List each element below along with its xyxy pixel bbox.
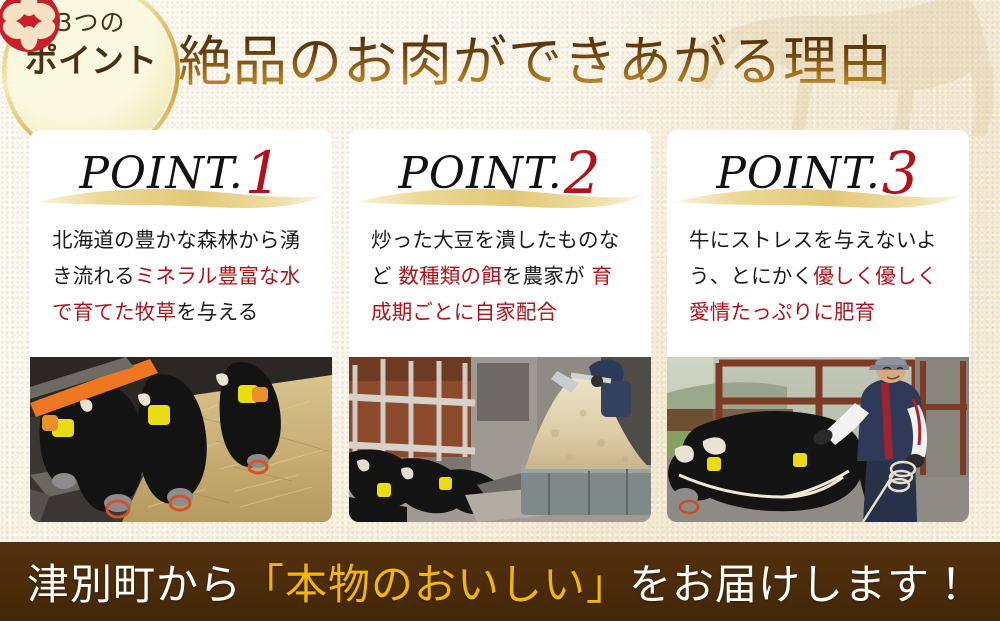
points-card-list: POINT.1 北海道の豊かな森林から湧き流れるミネラル豊富な水で育てた牧草を与… xyxy=(0,130,1000,525)
gold-brush-swoosh-icon xyxy=(36,184,328,214)
footer-bar: 津別町から「本物のおいしい」をお届けします！ xyxy=(0,542,1000,621)
cattle-eating-hay-photo[interactable] xyxy=(30,357,332,522)
point-2-body: 炒った大豆を潰したものなど 数種類の餌を農家が 育成期ごとに自家配合 xyxy=(349,218,651,330)
footer-quote: 本物のおいしい xyxy=(285,560,586,609)
point-card-1[interactable]: POINT.1 北海道の豊かな森林から湧き流れるミネラル豊富な水で育てた牧草を与… xyxy=(30,130,332,522)
point-3-body: 牛にストレスを与えないよう、とにかく優しく優しく愛情たっぷりに肥育 xyxy=(667,218,969,330)
point-card-2[interactable]: POINT.2 炒った大豆を潰したものなど 数種類の餌を農家が 育成期ごとに自家… xyxy=(349,130,651,522)
point-1-seg-3: を与える xyxy=(176,300,258,324)
point-2-heading: POINT.2 xyxy=(349,130,651,218)
footer-message: 津別町から「本物のおいしい」をお届けします！ xyxy=(27,551,973,612)
point-1-body: 北海道の豊かな森林から湧き流れるミネラル豊富な水で育てた牧草を与える xyxy=(30,218,332,330)
point-3-heading: POINT.3 xyxy=(667,130,969,218)
page-title: 絶品のお肉ができあがる理由 xyxy=(178,26,978,98)
footer-tail: をお届けします！ xyxy=(629,560,973,609)
point-2-seg-3: を農家が xyxy=(502,264,592,288)
footer-quote-open: 「 xyxy=(242,560,285,609)
point-2-seg-2: 数種類の餌 xyxy=(398,264,502,288)
farmer-with-cow-photo[interactable] xyxy=(667,357,969,522)
gold-brush-swoosh-icon xyxy=(355,184,647,214)
point-1-heading: POINT.1 xyxy=(30,130,332,218)
promo-banner: 3つの ポイント 絶品のお肉ができあがる理由 POINT.1 xyxy=(0,0,1000,621)
feed-mixing-photo[interactable] xyxy=(349,357,651,522)
header: 3つの ポイント 絶品のお肉ができあがる理由 xyxy=(0,0,1000,128)
footer-quote-close: 」 xyxy=(586,560,629,609)
plum-blossom-seal-icon xyxy=(0,0,60,52)
gold-brush-swoosh-icon xyxy=(673,184,965,214)
footer-lead: 津別町から xyxy=(27,560,242,609)
point-card-3[interactable]: POINT.3 牛にストレスを与えないよう、とにかく優しく優しく愛情たっぷりに肥… xyxy=(667,130,969,522)
